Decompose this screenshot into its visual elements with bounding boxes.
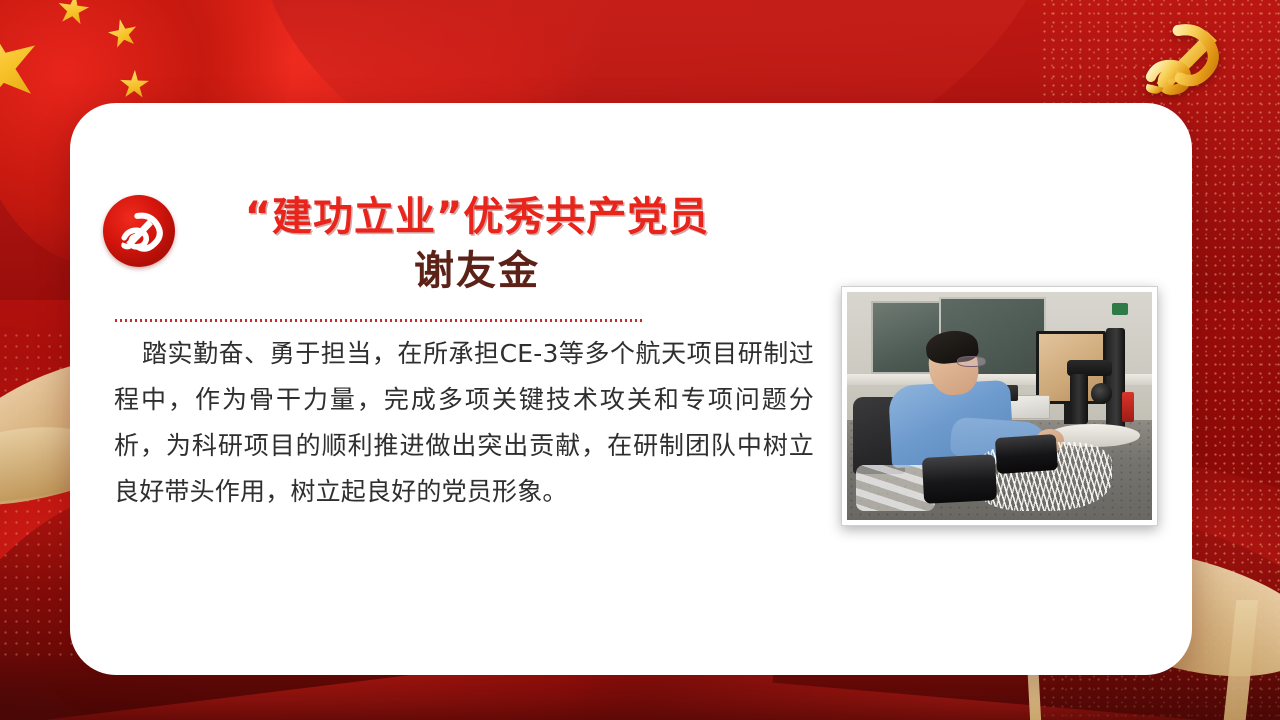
body-paragraph: 踏实勤奋、勇于担当，在所承担CE-3等多个航天项目研制过程中，作为骨干力量，完成…	[114, 331, 814, 515]
photo-microscope-knob	[1091, 383, 1112, 404]
body-paragraph-wrap: 踏实勤奋、勇于担当，在所承担CE-3等多个航天项目研制过程中，作为骨干力量，完成…	[114, 331, 814, 515]
flag-star-small-3-icon	[119, 69, 150, 100]
flag-star-small-1-icon	[55, 0, 91, 28]
person-name: 谢友金	[203, 245, 751, 297]
photo-cylinder-rear	[995, 434, 1058, 475]
photo-person-glasses	[957, 356, 986, 367]
photo-frame	[841, 286, 1158, 526]
photo-cylinder-front	[922, 454, 997, 503]
party-emblem-gold-icon	[1124, 18, 1236, 96]
lab-photo	[847, 292, 1152, 520]
slide-root: “建功立业”优秀共产党员 谢友金 踏实勤奋、勇于担当，在所承担CE-3等多个航天…	[0, 0, 1280, 720]
card-header: “建功立业”优秀共产党员 谢友金	[103, 191, 753, 311]
dotted-divider	[115, 319, 642, 322]
page-title: “建功立业”优秀共产党员	[203, 191, 751, 243]
photo-microscope-red-part	[1122, 392, 1134, 422]
content-card: “建功立业”优秀共产党员 谢友金 踏实勤奋、勇于担当，在所承担CE-3等多个航天…	[70, 103, 1192, 675]
flag-star-small-2-icon	[105, 16, 141, 52]
photo-microscope-tube	[1070, 374, 1088, 424]
party-emblem-hammer-sickle-icon	[103, 195, 175, 267]
photo-exit-sign	[1112, 303, 1128, 315]
flag-star-large-icon	[0, 17, 49, 116]
